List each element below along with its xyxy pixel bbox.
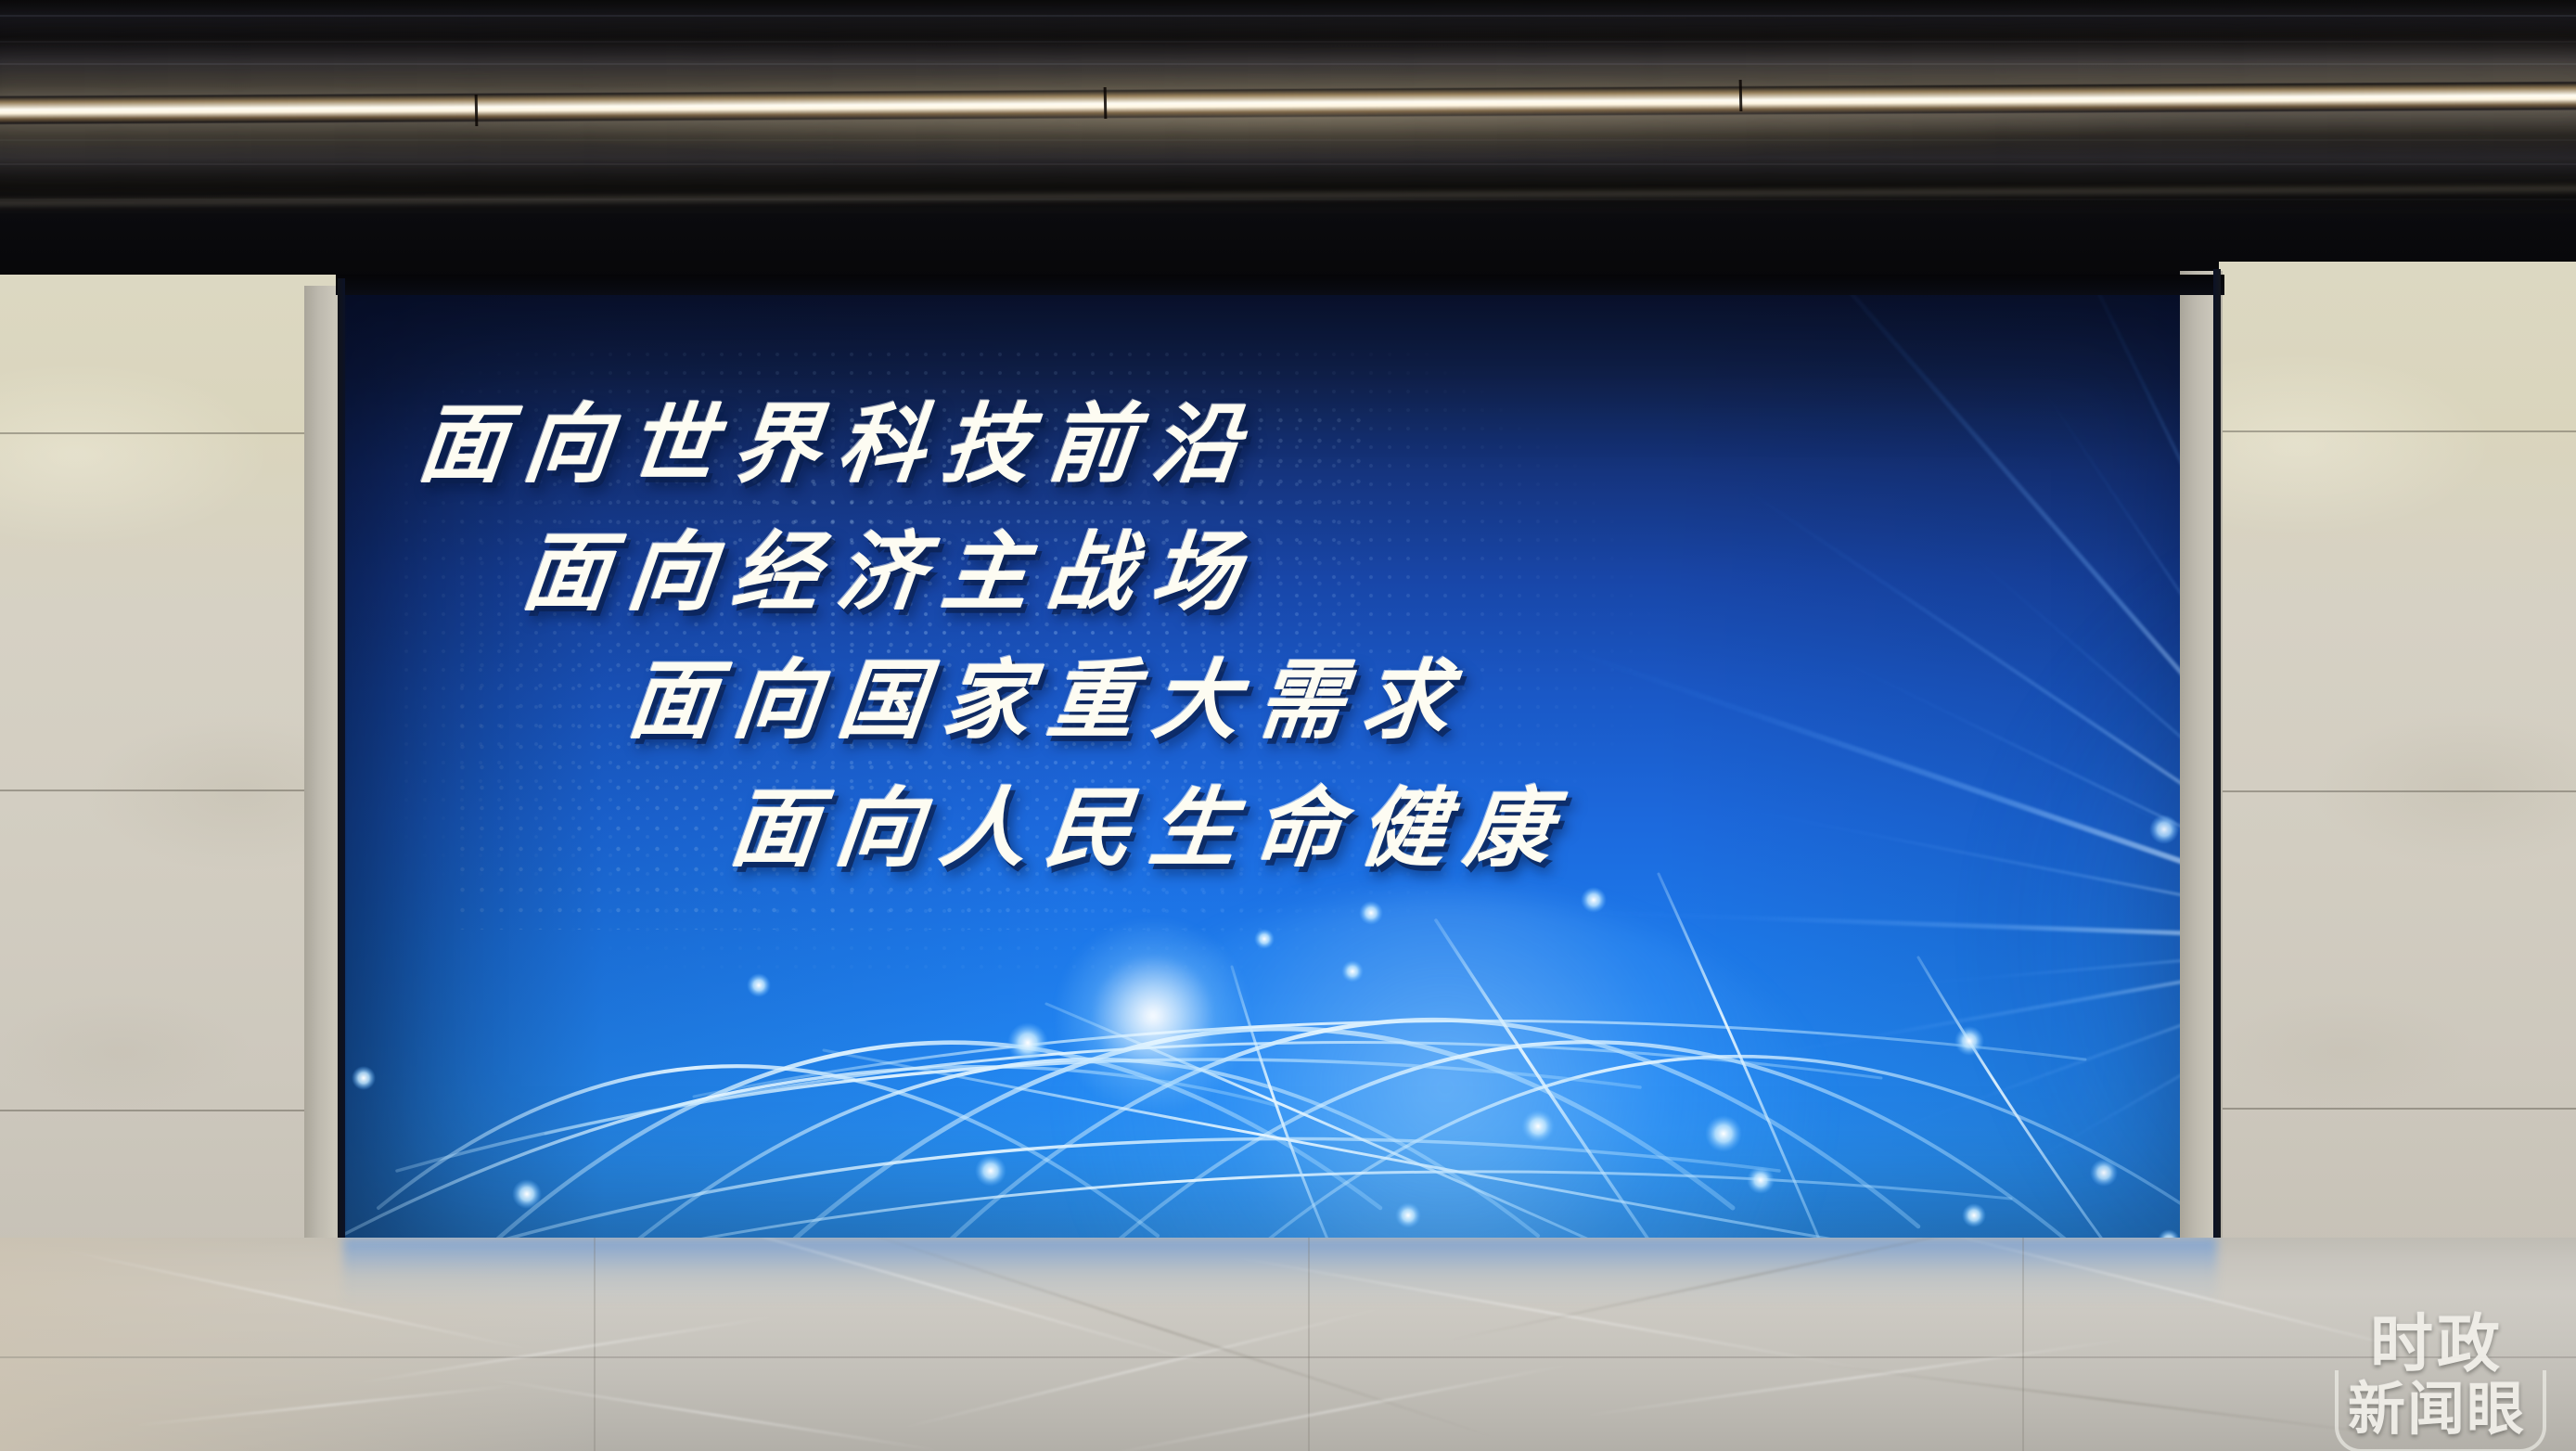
- starburst-ray: [1878, 939, 2219, 989]
- screenshot-scene: 面向世界科技前沿 面向经济主战场 面向国家重大需求 面向人民生命健康 时政 新闻…: [0, 0, 2576, 1451]
- slogan-line-3: 面向国家重大需求: [341, 636, 2219, 764]
- floor: [0, 1238, 2576, 1451]
- slogan-line-4: 面向人民生命健康: [341, 764, 2219, 892]
- screen-bezel-right: [2213, 269, 2221, 1260]
- starburst-ray: [1561, 909, 2219, 944]
- globe-glow: [1046, 892, 1844, 1254]
- led-video-wall[interactable]: 面向世界科技前沿 面向经济主战场 面向国家重大需求 面向人民生命健康: [341, 289, 2219, 1254]
- screen-bezel-left: [338, 278, 345, 1260]
- wall-left: [0, 275, 345, 1272]
- screen-reflection-on-floor: [343, 1238, 2217, 1306]
- slogan-line-2: 面向经济主战场: [341, 508, 2219, 636]
- slogan-block: 面向世界科技前沿 面向经济主战场 面向国家重大需求 面向人民生命健康: [341, 289, 2219, 892]
- starburst-ray: [1720, 939, 2219, 1065]
- slogan-line-1: 面向世界科技前沿: [341, 380, 2219, 508]
- starburst-ray: [1856, 939, 2219, 1145]
- globe-center-flare: [1056, 918, 1250, 1113]
- screen-bezel-top: [336, 275, 2224, 295]
- wall-texture: [0, 275, 345, 1272]
- wall-texture: [2219, 262, 2576, 1275]
- wall-right: [2219, 262, 2576, 1275]
